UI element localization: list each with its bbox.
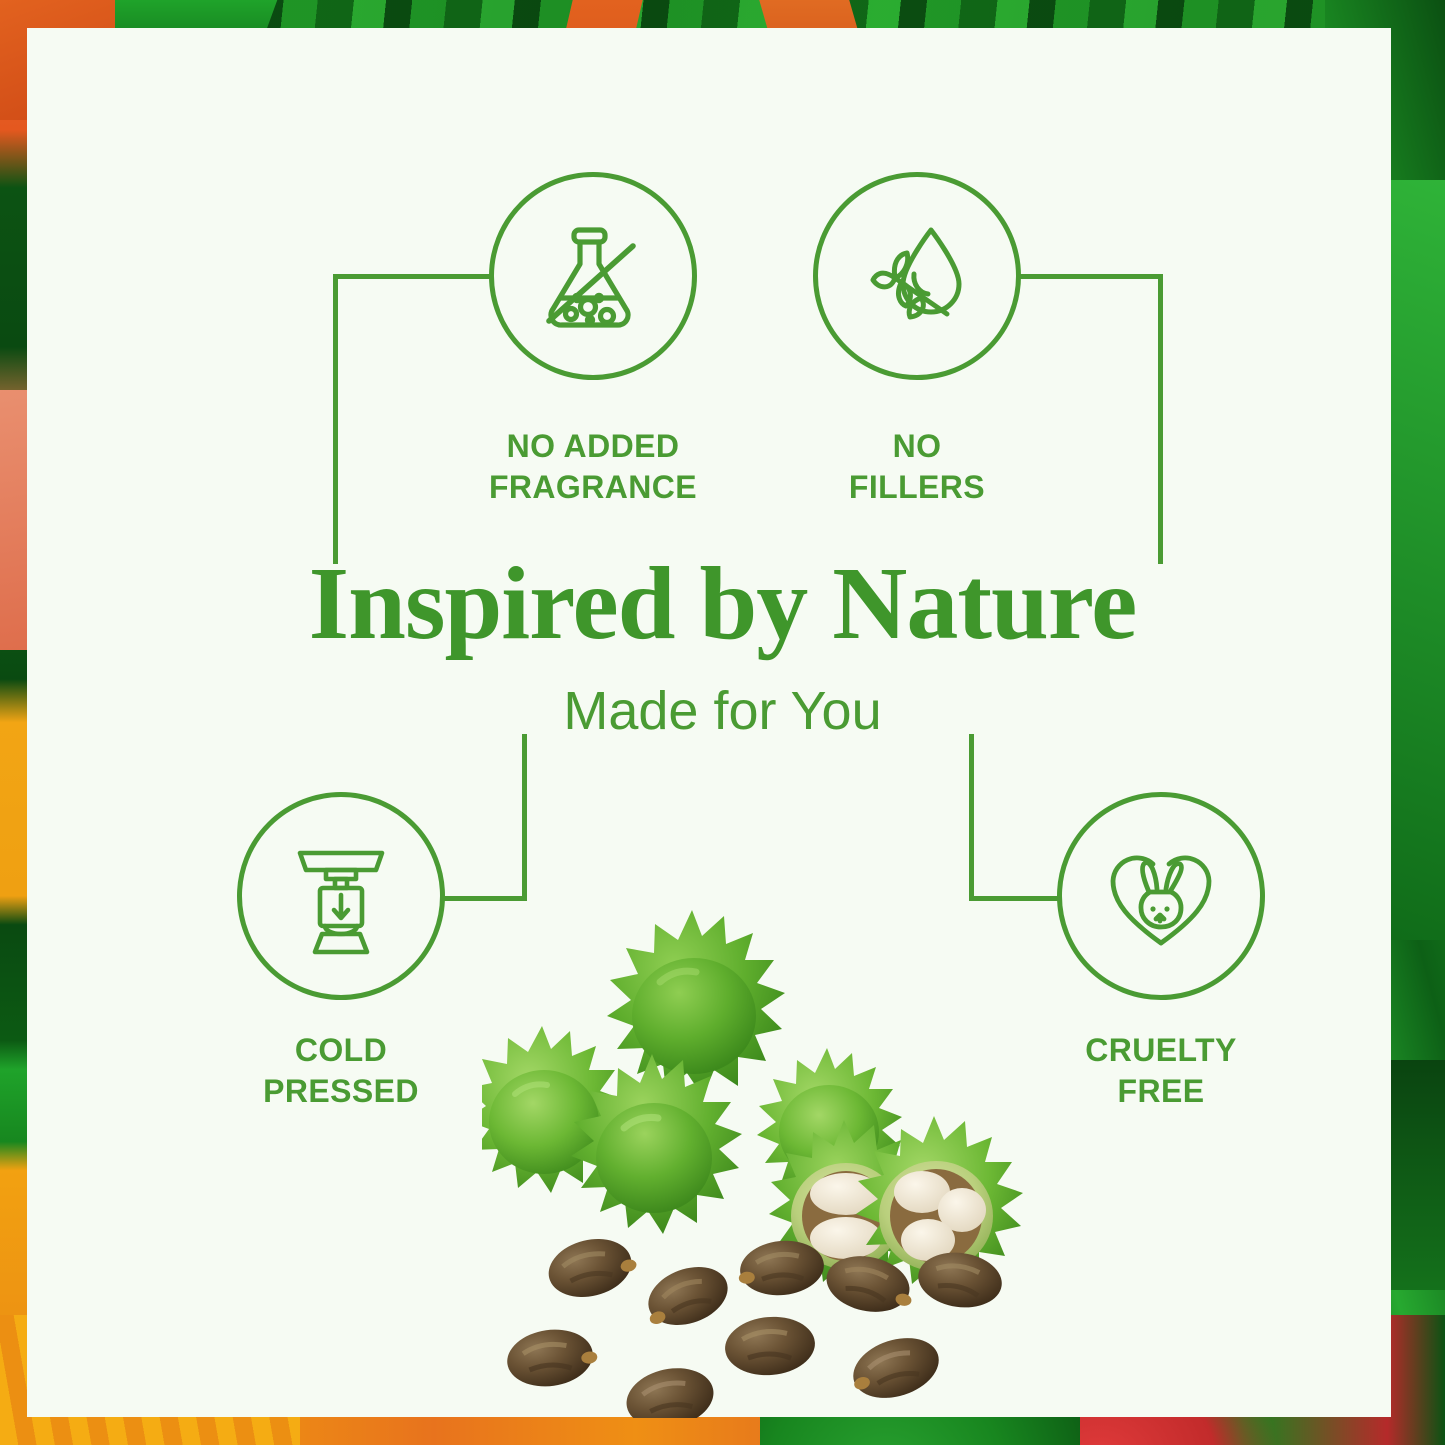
castor-bean-pods-and-seeds-image — [482, 898, 1052, 1418]
product-infographic: NO ADDED FRAGRANCE NO FILLERS — [0, 0, 1445, 1445]
badge-label-line1: CRUELTY — [1027, 1030, 1295, 1071]
badge-label-no-fillers: NO FILLERS — [767, 426, 1067, 508]
page-subtitle: Made for You — [0, 684, 1445, 738]
badge-label-line1: NO — [767, 426, 1067, 467]
connector-bottom-left-vertical — [522, 734, 527, 901]
no-fragrance-flask-icon — [527, 210, 659, 342]
rabbit-heart-icon — [1095, 830, 1227, 962]
connector-top-left-horizontal — [333, 274, 493, 279]
badge-label-line1: NO ADDED — [407, 426, 779, 467]
badge-no-fillers — [813, 172, 1021, 380]
badge-label-line2: PRESSED — [207, 1071, 475, 1112]
page-title: Inspired by Nature — [0, 552, 1445, 656]
badge-cold-pressed — [237, 792, 445, 1000]
badge-label-line2: FREE — [1027, 1071, 1295, 1112]
badge-label-cold-pressed: COLD PRESSED — [207, 1030, 475, 1112]
badge-label-line2: FILLERS — [767, 467, 1067, 508]
droplet-leaf-icon — [851, 210, 983, 342]
badge-label-cruelty-free: CRUELTY FREE — [1027, 1030, 1295, 1112]
connector-top-left-vertical — [333, 274, 338, 564]
badge-label-line1: COLD — [207, 1030, 475, 1071]
badge-label-line2: FRAGRANCE — [407, 467, 779, 508]
connector-bottom-right-vertical — [969, 734, 974, 901]
badge-label-no-added-fragrance: NO ADDED FRAGRANCE — [407, 426, 779, 508]
cold-press-icon — [278, 833, 404, 959]
badge-cruelty-free — [1057, 792, 1265, 1000]
connector-top-right-vertical — [1158, 274, 1163, 564]
badge-no-added-fragrance — [489, 172, 697, 380]
connector-top-right-horizontal — [1013, 274, 1163, 279]
